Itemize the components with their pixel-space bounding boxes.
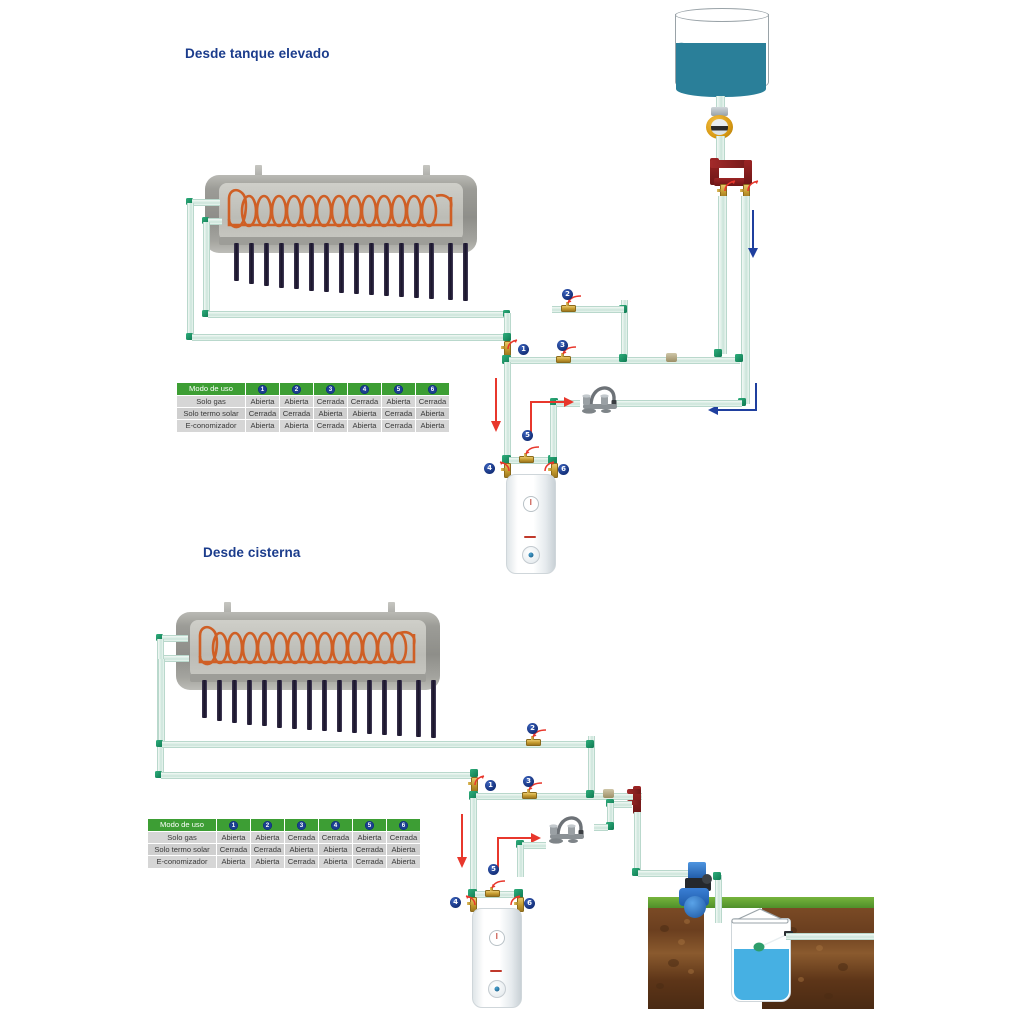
cell: Abierta: [416, 420, 450, 432]
valve-mode-table-bottom-el: Modo de uso 1 2 3 4 5 6 Solo gas Abierta…: [147, 818, 421, 869]
cell: Abierta: [387, 856, 421, 868]
cell: Cerrada: [217, 843, 251, 855]
cistern-inlet-pipe: [786, 933, 874, 940]
collector-outlet-stub-top: [208, 218, 222, 225]
solar-thermal-collector-top: [205, 175, 477, 253]
marker-2-bottom: 2: [527, 723, 538, 734]
heater-thermometer-bottom: [489, 930, 505, 946]
cell: Cerrada: [387, 831, 421, 843]
heater-thermometer-top: [523, 496, 539, 512]
cold-run-to-faucet-top: [616, 400, 742, 407]
marker-1-bottom: 1: [485, 780, 496, 791]
blue-arrow-left-return: [700, 380, 760, 416]
th-2-top: 2: [280, 383, 314, 396]
marker-3-bottom: 3: [523, 776, 534, 787]
section-title-top: Desde tanque elevado: [185, 46, 330, 61]
heater-control-knob-bottom[interactable]: [488, 980, 506, 998]
cell: Abierta: [353, 831, 387, 843]
cell: Abierta: [280, 395, 314, 407]
table-row: E-conomizador Abierta Abierta Cerrada Ab…: [177, 420, 450, 432]
marker-2-top: 2: [562, 289, 573, 300]
tank-water-level: [676, 43, 766, 97]
meter-dial: [711, 119, 728, 134]
valve-5-arrow-top: [524, 444, 541, 457]
valve-6-arrow-top: [542, 459, 557, 474]
cell: Cerrada: [319, 831, 353, 843]
meter-outlet-pipe: [716, 136, 725, 160]
cell: Abierta: [348, 407, 382, 419]
manifold-feed-bottom: [612, 801, 632, 808]
copper-heat-exchanger-coil-bottom: [194, 622, 422, 670]
th-mode-top: Modo de uso: [177, 383, 246, 396]
inline-coupling-bottom: [603, 789, 614, 798]
manifold-bottom-tap1: [627, 789, 641, 794]
valve-4-arrow-bottom: [463, 893, 478, 908]
blue-arrow-down-top: [744, 208, 762, 260]
collector-return-riser: [187, 203, 194, 337]
marker-3-top: 3: [557, 340, 568, 351]
row-label: E-conomizador: [177, 420, 246, 432]
table-row: Solo termo solar Cerrada Cerrada Abierta…: [177, 407, 450, 419]
valve-mode-table-bottom: Modo de uso 1 2 3 4 5 6 Solo gas Abierta…: [147, 818, 421, 869]
marker-4-bottom: 4: [450, 897, 461, 908]
valve-handle-arrow-right: [745, 178, 761, 194]
cell: Abierta: [246, 420, 280, 432]
row-label: E-conomizador: [148, 856, 217, 868]
collector-return-run-b: [161, 772, 474, 779]
cell: Abierta: [416, 407, 450, 419]
fitting-t-g: [714, 349, 722, 357]
gas-water-heater-top: [506, 474, 554, 572]
mixer-faucet-top[interactable]: [573, 375, 631, 417]
collector-outlet-stub-bottom: [163, 655, 189, 662]
supply-downcomer-left: [718, 196, 727, 354]
th-mode-bottom: Modo de uso: [148, 819, 217, 832]
marker-1-top: 1: [518, 344, 529, 355]
th-5-bottom: 5: [353, 819, 387, 832]
valve-6-arrow-bottom: [508, 893, 523, 908]
cell: Cerrada: [416, 395, 450, 407]
cell: Abierta: [348, 420, 382, 432]
cell: Cerrada: [280, 407, 314, 419]
heater-brand-top: [524, 536, 536, 538]
cell: Cerrada: [251, 843, 285, 855]
row-label: Solo gas: [148, 831, 217, 843]
section-title-bottom: Desde cisterna: [203, 545, 300, 560]
th-2-bottom: 2: [251, 819, 285, 832]
th-1-top: 1: [246, 383, 280, 396]
table-row: Solo gas Abierta Abierta Cerrada Cerrada…: [177, 395, 450, 407]
collector-inlet-stub-top: [192, 199, 220, 206]
cell: Abierta: [319, 843, 353, 855]
cell: Cerrada: [353, 843, 387, 855]
cistern-lid: [726, 906, 794, 924]
th-3-top: 3: [314, 383, 348, 396]
collector-return-run: [192, 334, 510, 341]
table-row: Solo termo solar Cerrada Cerrada Abierta…: [148, 843, 421, 855]
heater-control-knob-top[interactable]: [522, 546, 540, 564]
th-6-top: 6: [416, 383, 450, 396]
table-row: E-conomizador Abierta Abierta Cerrada Ab…: [148, 856, 421, 868]
table-header-row-top: Modo de uso 1 2 3 4 5 6: [177, 383, 450, 396]
copper-heat-exchanger-coil: [223, 185, 459, 233]
row-label: Solo termo solar: [177, 407, 246, 419]
cell: Cerrada: [314, 420, 348, 432]
cell: Abierta: [285, 843, 319, 855]
fitting-t-f: [735, 354, 743, 362]
cistern-water: [734, 949, 789, 1000]
cell: Abierta: [217, 856, 251, 868]
inline-coupling-top: [666, 353, 677, 362]
gas-water-heater-bottom: [472, 908, 520, 1006]
collector-inlet-stub-bottom: [162, 635, 188, 642]
cell: Abierta: [217, 831, 251, 843]
tank-rim: [675, 8, 769, 22]
solar-thermal-collector-bottom: [176, 612, 440, 690]
cell: Cerrada: [348, 395, 382, 407]
cell: Cerrada: [314, 395, 348, 407]
fitting-b-d: [586, 790, 594, 798]
th-1-bottom: 1: [217, 819, 251, 832]
fitting-b-c: [586, 740, 594, 748]
th-5-top: 5: [382, 383, 416, 396]
pressure-pump: [676, 878, 722, 922]
pump-pressure-switch: [702, 874, 712, 884]
cell: Cerrada: [382, 420, 416, 432]
marker-5-bottom: 5: [488, 864, 499, 875]
cell: Abierta: [246, 395, 280, 407]
marker-5-top: 5: [522, 430, 533, 441]
marker-6-top: 6: [558, 464, 569, 475]
heater-brand-bottom: [490, 970, 502, 972]
diagram-canvas: Desde tanque elevado: [0, 0, 1024, 1024]
red-arrow-down-top: [486, 376, 506, 434]
valve-handle-arrow-left: [722, 178, 738, 194]
row-label: Solo gas: [177, 395, 246, 407]
th-4-bottom: 4: [319, 819, 353, 832]
marker-6-bottom: 6: [524, 898, 535, 909]
cell: Abierta: [251, 856, 285, 868]
th-3-bottom: 3: [285, 819, 319, 832]
pump-discharge-run: [638, 870, 694, 877]
cell: Abierta: [314, 407, 348, 419]
cell: Cerrada: [285, 856, 319, 868]
valve-5-arrow-bottom: [490, 878, 507, 891]
cell: Abierta: [251, 831, 285, 843]
cell: Cerrada: [382, 407, 416, 419]
collector-feed-run: [208, 311, 506, 318]
elevated-water-tank: [675, 8, 767, 98]
cell: Cerrada: [285, 831, 319, 843]
table-row: Solo gas Abierta Abierta Cerrada Cerrada…: [148, 831, 421, 843]
valve-mode-table-top: Modo de uso 1 2 3 4 5 6 Solo gas Abierta…: [176, 382, 450, 433]
th-6-bottom: 6: [387, 819, 421, 832]
table-header-row-bottom: Modo de uso 1 2 3 4 5 6: [148, 819, 421, 832]
tank-water-surface: [676, 39, 766, 47]
cell: Abierta: [280, 420, 314, 432]
collector-feed-riser-b: [158, 659, 165, 744]
fitting-t-e: [619, 354, 627, 362]
row-label: Solo termo solar: [148, 843, 217, 855]
th-4-top: 4: [348, 383, 382, 396]
evacuated-tube-array-top: [230, 243, 470, 305]
cistern-supply-riser: [634, 812, 641, 872]
heater-riser-right-top: [550, 405, 557, 457]
main-hot-run-bottom: [476, 793, 642, 800]
cell: Abierta: [319, 856, 353, 868]
pump-impeller-housing: [684, 896, 706, 918]
valve-mode-table-top-el: Modo de uso 1 2 3 4 5 6 Solo gas Abierta…: [176, 382, 450, 433]
cell: Abierta: [382, 395, 416, 407]
red-arrow-down-bottom: [452, 812, 472, 870]
valve-4-arrow-top: [497, 459, 512, 474]
evacuated-tube-array-bottom: [198, 680, 438, 742]
cell: Cerrada: [246, 407, 280, 419]
cell: Cerrada: [353, 856, 387, 868]
cell: Abierta: [387, 843, 421, 855]
heater-riser-right-bottom: [517, 845, 524, 877]
marker-4-top: 4: [484, 463, 495, 474]
collector-feed-riser: [203, 222, 210, 314]
mixer-faucet-bottom[interactable]: [540, 805, 598, 847]
